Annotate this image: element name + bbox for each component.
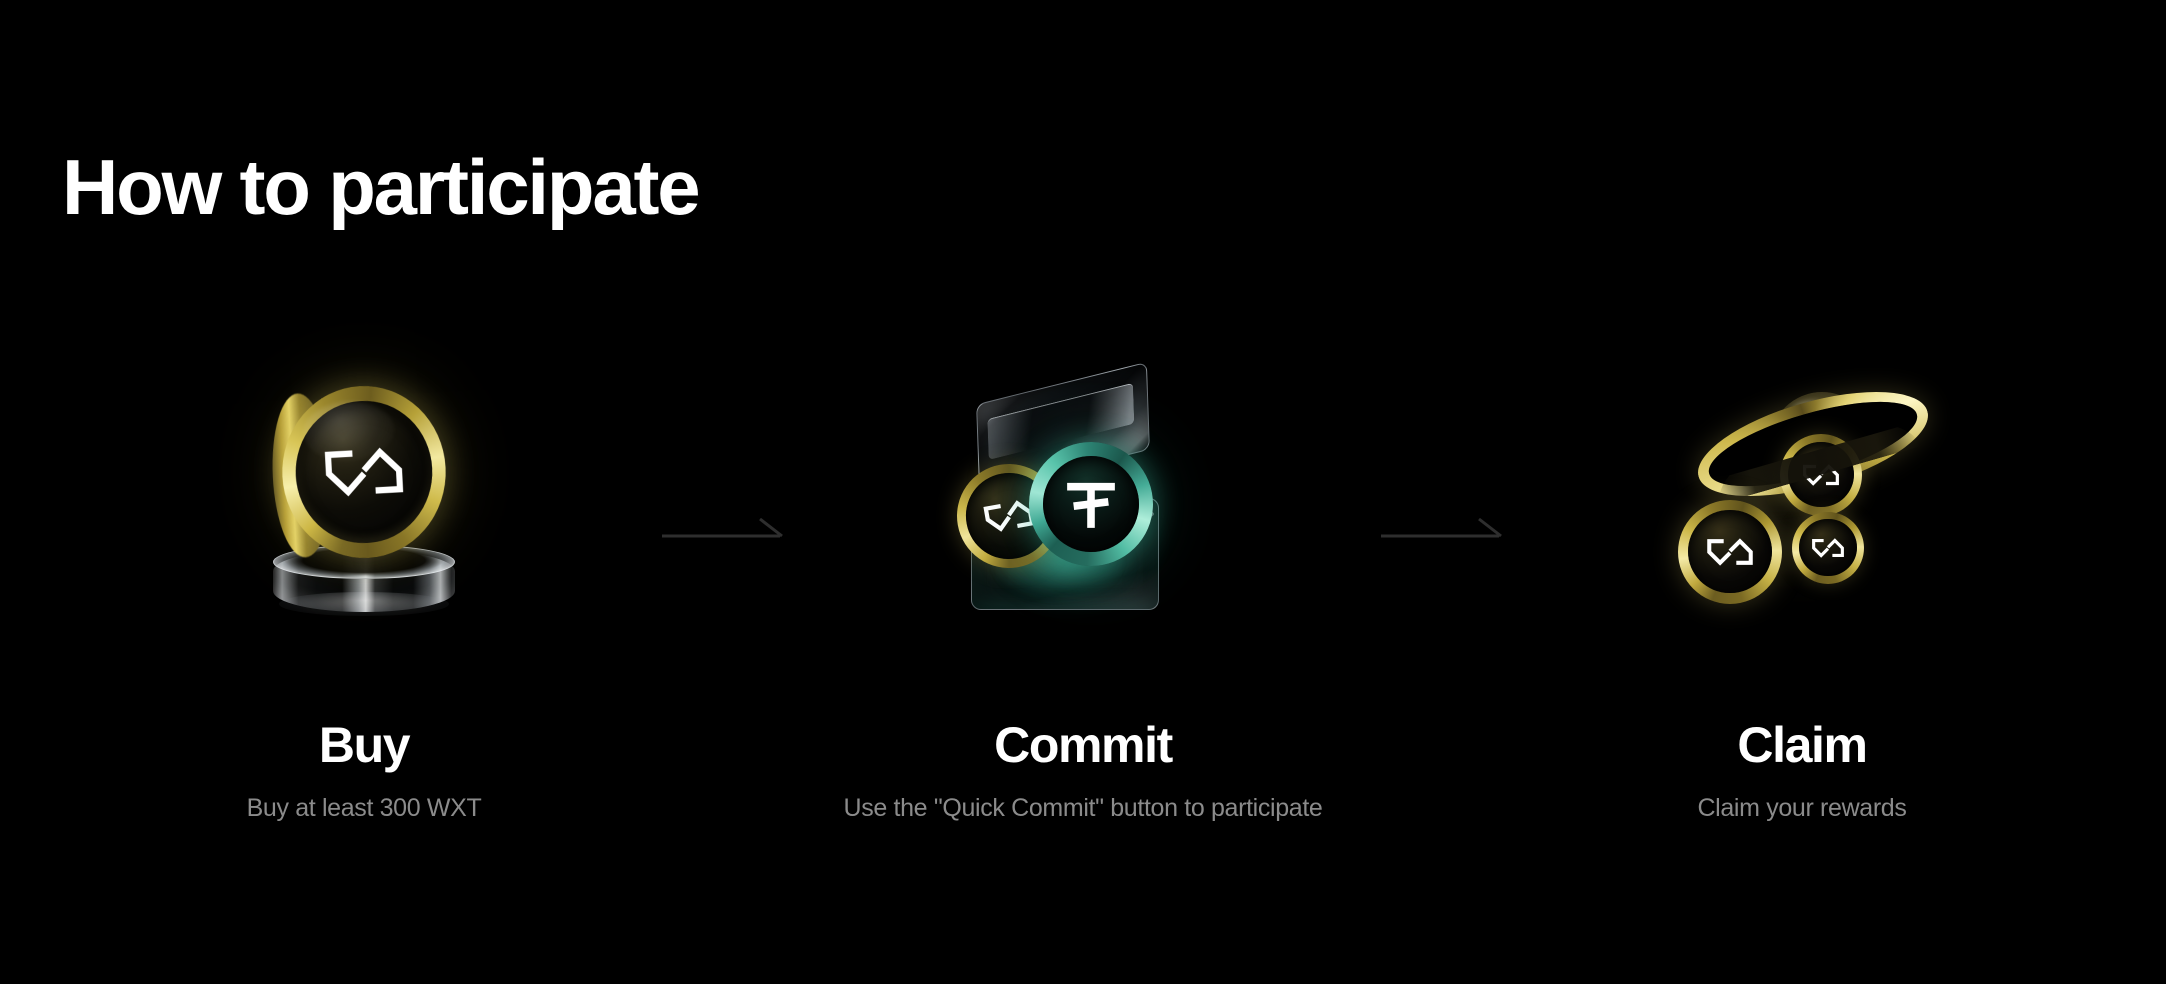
gold-coin-on-pedestal-icon (214, 380, 514, 620)
pedestal-bottom-glow (279, 592, 449, 616)
ringed-planet-icon (1652, 378, 1952, 623)
page-title: How to participate (62, 148, 698, 226)
wxt-gold-coin (278, 382, 450, 563)
wxt-coin-small (1792, 512, 1864, 584)
step-commit: Commit Use the "Quick Commit" button to … (862, 380, 1304, 823)
step-claim-illustration (1642, 380, 1962, 620)
step-commit-illustration (923, 380, 1243, 620)
wxt-logo-icon (317, 439, 411, 506)
wxt-coin-large (1678, 500, 1782, 604)
how-to-participate-section: How to participate (0, 0, 2166, 984)
step-claim: Claim Claim your rewards (1581, 380, 2023, 823)
glass-chest-icon (933, 378, 1233, 623)
arrow-right-icon (662, 516, 786, 542)
connector-2 (1304, 380, 1581, 542)
step-buy-subtitle: Buy at least 300 WXT (247, 793, 482, 823)
step-buy: Buy Buy at least 300 WXT (143, 380, 585, 823)
step-buy-illustration (204, 380, 524, 620)
connector-1 (585, 380, 862, 542)
arrow-right-icon (1381, 516, 1505, 542)
step-commit-subtitle: Use the "Quick Commit" button to partici… (844, 793, 1323, 823)
steps-row: Buy Buy at least 300 WXT (0, 380, 2166, 900)
tether-t-logo-icon (1056, 469, 1125, 538)
wxt-logo-icon (1809, 536, 1846, 560)
wxt-logo-icon (1703, 534, 1757, 568)
step-claim-subtitle: Claim your rewards (1697, 793, 1906, 823)
step-commit-title: Commit (994, 720, 1172, 770)
step-claim-title: Claim (1737, 720, 1866, 770)
step-buy-title: Buy (319, 720, 409, 770)
